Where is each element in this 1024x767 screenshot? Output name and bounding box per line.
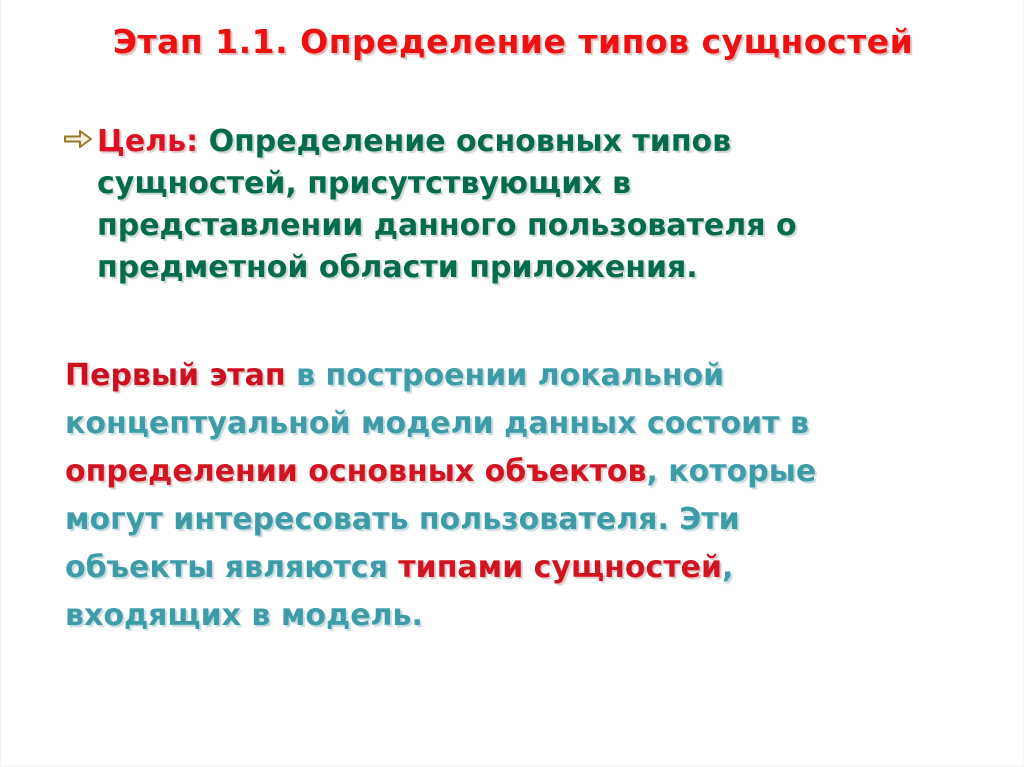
paragraph-segment-5: типами сущностей	[398, 550, 722, 585]
goal-body: Определение основных типов сущностей, пр…	[97, 124, 797, 285]
page-title: Этап 1.1. Определение типов сущностей	[1, 22, 1024, 62]
goal-bullet-item: Цель: Определение основных типов сущност…	[63, 121, 963, 289]
presentation-slide: Этап 1.1. Определение типов сущностей Це…	[0, 0, 1024, 767]
goal-label: Цель:	[97, 124, 198, 159]
goal-text: Цель: Определение основных типов сущност…	[97, 121, 817, 289]
body-paragraph: Первый этап в построении локальной конце…	[65, 352, 865, 640]
paragraph-segment-1: Первый этап	[65, 358, 286, 393]
right-arrow-bullet-icon	[63, 121, 97, 150]
paragraph-segment-3: определении основных объектов	[65, 454, 646, 489]
